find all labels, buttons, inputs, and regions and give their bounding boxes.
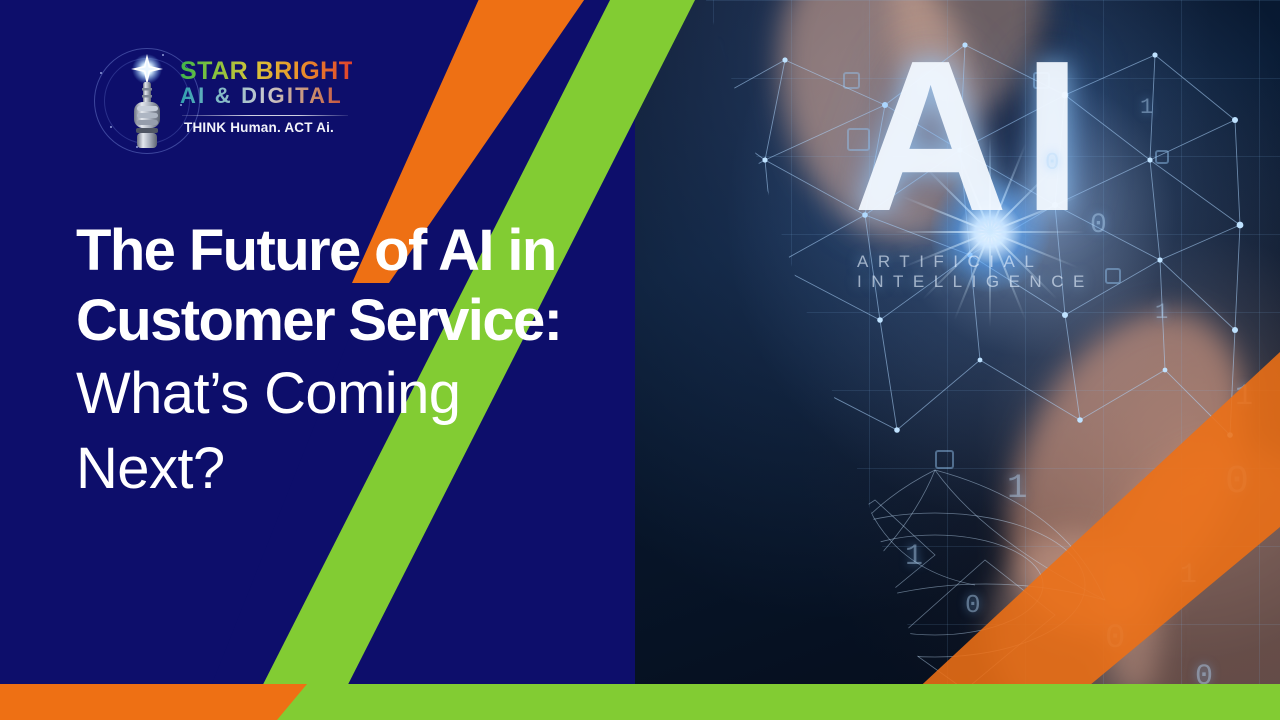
binary-digit: 0 [785,330,803,364]
logo-line-ai-digital: AI & DIGITAL [180,84,352,109]
ai-wordmark: AI [853,28,1096,243]
binary-digit: 1 [705,40,721,70]
binary-digit: 1 [1140,95,1153,120]
ai-photo-panel: AI ARTIFICIAL INTELLIGENCE 1 0 1 0 0 1 1… [635,0,1280,720]
logo-sparkle-speck [100,72,102,74]
binary-digit: 0 [1090,210,1107,241]
logo-wordmark: STAR BRIGHT AI & DIGITAL THINK Human. AC… [180,58,352,135]
brand-logo[interactable]: STAR BRIGHT AI & DIGITAL THINK Human. AC… [92,42,352,160]
page-title: The Future of AI in Customer Service: Wh… [76,216,676,505]
headline-line-1: The Future of AI in [76,216,676,286]
headline-line-4: Next? [76,434,676,505]
headline-line-2: Customer Service: [76,286,676,356]
robotic-hand-holding-star-icon [120,54,174,150]
binary-digit: 1 [905,540,923,574]
binary-digit: 1 [1155,300,1168,325]
binary-digit: 0 [1045,150,1059,177]
headline-line-3: What’s Coming [76,359,676,430]
logo-divider [182,115,348,116]
binary-digit: 0 [965,590,981,620]
logo-sparkle-speck [110,126,112,128]
logo-tagline: THINK Human. ACT Ai. [184,120,352,135]
blog-banner: AI ARTIFICIAL INTELLIGENCE 1 0 1 0 0 1 1… [0,0,1280,720]
binary-digit: 1 [755,600,769,627]
hud-square-icon [739,238,754,253]
ai-subtitle: ARTIFICIAL INTELLIGENCE [857,252,1280,292]
binary-digit: 1 [1007,470,1027,508]
binary-digit: 0 [870,655,886,685]
logo-line-star-bright: STAR BRIGHT [180,58,352,84]
